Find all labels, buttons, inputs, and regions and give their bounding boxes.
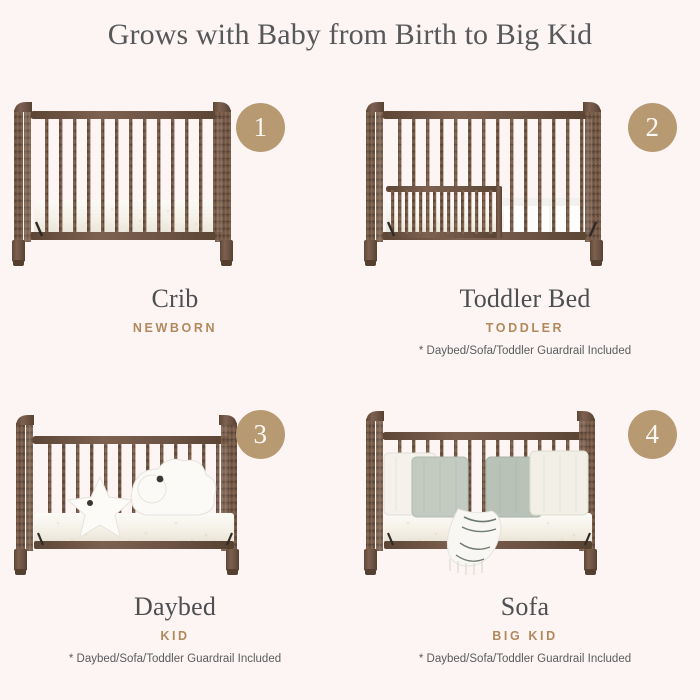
cloud-pillow	[131, 459, 216, 515]
infographic-page: Grows with Baby from Birth to Big Kid	[0, 0, 700, 700]
toddler-bed-caption: Toddler Bed TODDLER * Daybed/Sofa/Toddle…	[350, 283, 700, 359]
stage-name-crib: Crib	[0, 283, 350, 315]
stage-card-daybed[interactable]: 3 Daybed KID * Daybed/Sofa/Toddler Guard…	[0, 391, 350, 700]
stage-note-daybed: * Daybed/Sofa/Toddler Guardrail Included	[0, 652, 350, 667]
daybed-caption: Daybed KID * Daybed/Sofa/Toddler Guardra…	[0, 591, 350, 667]
daybed-illustration	[0, 391, 350, 586]
stage-age-crib: NEWBORN	[0, 321, 350, 335]
stage-age-toddler-bed: TODDLER	[350, 321, 700, 335]
throw-blanket	[447, 509, 501, 575]
stage-badge-2: 2	[628, 103, 677, 152]
stage-name-sofa: Sofa	[350, 591, 700, 623]
stage-age-sofa: BIG KID	[350, 629, 700, 643]
jenny-lind-daybed-svg	[0, 391, 350, 586]
jenny-lind-crib-svg	[0, 82, 350, 277]
stage-badge-1: 1	[236, 103, 285, 152]
stage-name-daybed: Daybed	[0, 591, 350, 623]
throw-pillows	[384, 451, 588, 517]
stage-note-sofa: * Daybed/Sofa/Toddler Guardrail Included	[350, 652, 700, 667]
stage-card-toddler-bed[interactable]: 2 Toddler Bed TODDLER * Daybed/Sofa/Todd…	[350, 82, 700, 391]
stage-card-crib[interactable]: 1 Crib NEWBORN	[0, 82, 350, 391]
crib-illustration	[0, 82, 350, 277]
crib-caption: Crib NEWBORN	[0, 283, 350, 344]
stage-note-toddler-bed: * Daybed/Sofa/Toddler Guardrail Included	[350, 344, 700, 359]
sofa-caption: Sofa BIG KID * Daybed/Sofa/Toddler Guard…	[350, 591, 700, 667]
stage-grid: 1 Crib NEWBORN	[0, 82, 700, 700]
stage-age-daybed: KID	[0, 629, 350, 643]
stage-card-sofa[interactable]: 4 Sofa BIG KID * Daybed/Sofa/Toddler Gua…	[350, 391, 700, 700]
page-title: Grows with Baby from Birth to Big Kid	[0, 18, 700, 52]
stage-badge-4: 4	[628, 410, 677, 459]
stage-name-toddler-bed: Toddler Bed	[350, 283, 700, 315]
stage-badge-3: 3	[236, 410, 285, 459]
